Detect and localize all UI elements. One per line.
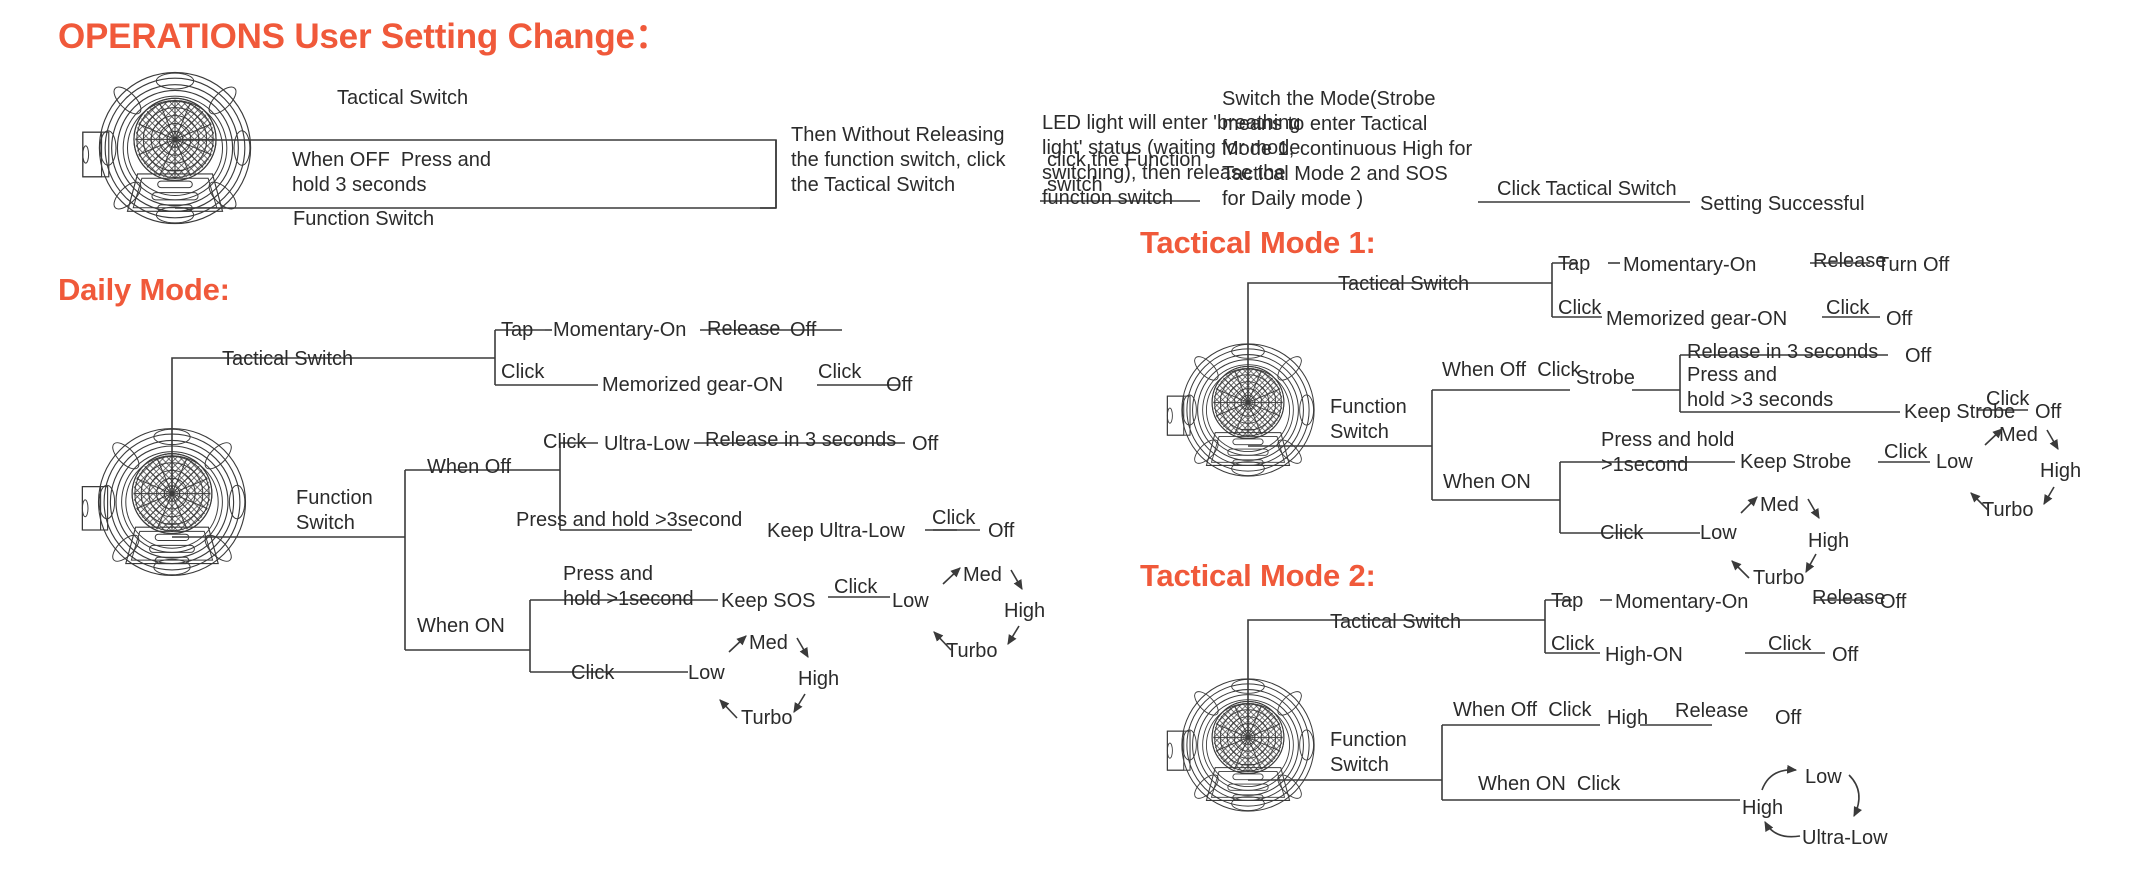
tactical-2-cycle-arrows	[0, 0, 2133, 888]
